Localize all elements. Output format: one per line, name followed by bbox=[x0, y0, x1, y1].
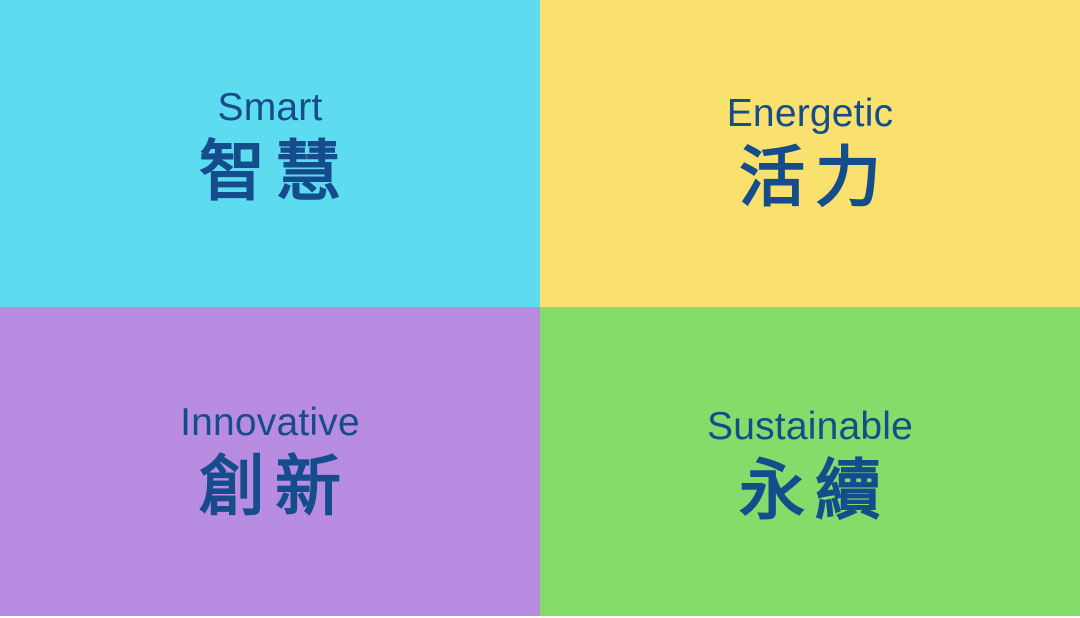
quadrant-sustainable-label-en: Sustainable bbox=[707, 407, 913, 448]
quadrant-energetic-label-en: Energetic bbox=[727, 94, 894, 135]
quadrant-innovative-label-zh: 創新 bbox=[189, 450, 351, 524]
quadrant-innovative-text-stack: Innovative 創新 bbox=[180, 403, 360, 524]
quadrant-energetic-label-zh: 活力 bbox=[729, 141, 891, 215]
quadrant-smart[interactable]: Smart 智慧 bbox=[0, 0, 540, 307]
quadrant-energetic-text-stack: Energetic 活力 bbox=[727, 94, 894, 215]
quadrant-sustainable[interactable]: Sustainable 永續 bbox=[540, 307, 1080, 618]
quadrant-smart-label-zh: 智慧 bbox=[189, 135, 351, 209]
quadrant-smart-label-en: Smart bbox=[217, 88, 322, 129]
brand-values-grid: Smart 智慧 Energetic 活力 Innovative 創新 Sust… bbox=[0, 0, 1080, 618]
quadrant-sustainable-label-zh: 永續 bbox=[729, 454, 891, 528]
quadrant-innovative-label-en: Innovative bbox=[180, 403, 360, 444]
quadrant-innovative[interactable]: Innovative 創新 bbox=[0, 307, 540, 618]
quadrant-energetic[interactable]: Energetic 活力 bbox=[540, 0, 1080, 307]
quadrant-sustainable-text-stack: Sustainable 永續 bbox=[707, 407, 913, 528]
quadrant-smart-text-stack: Smart 智慧 bbox=[189, 88, 351, 209]
